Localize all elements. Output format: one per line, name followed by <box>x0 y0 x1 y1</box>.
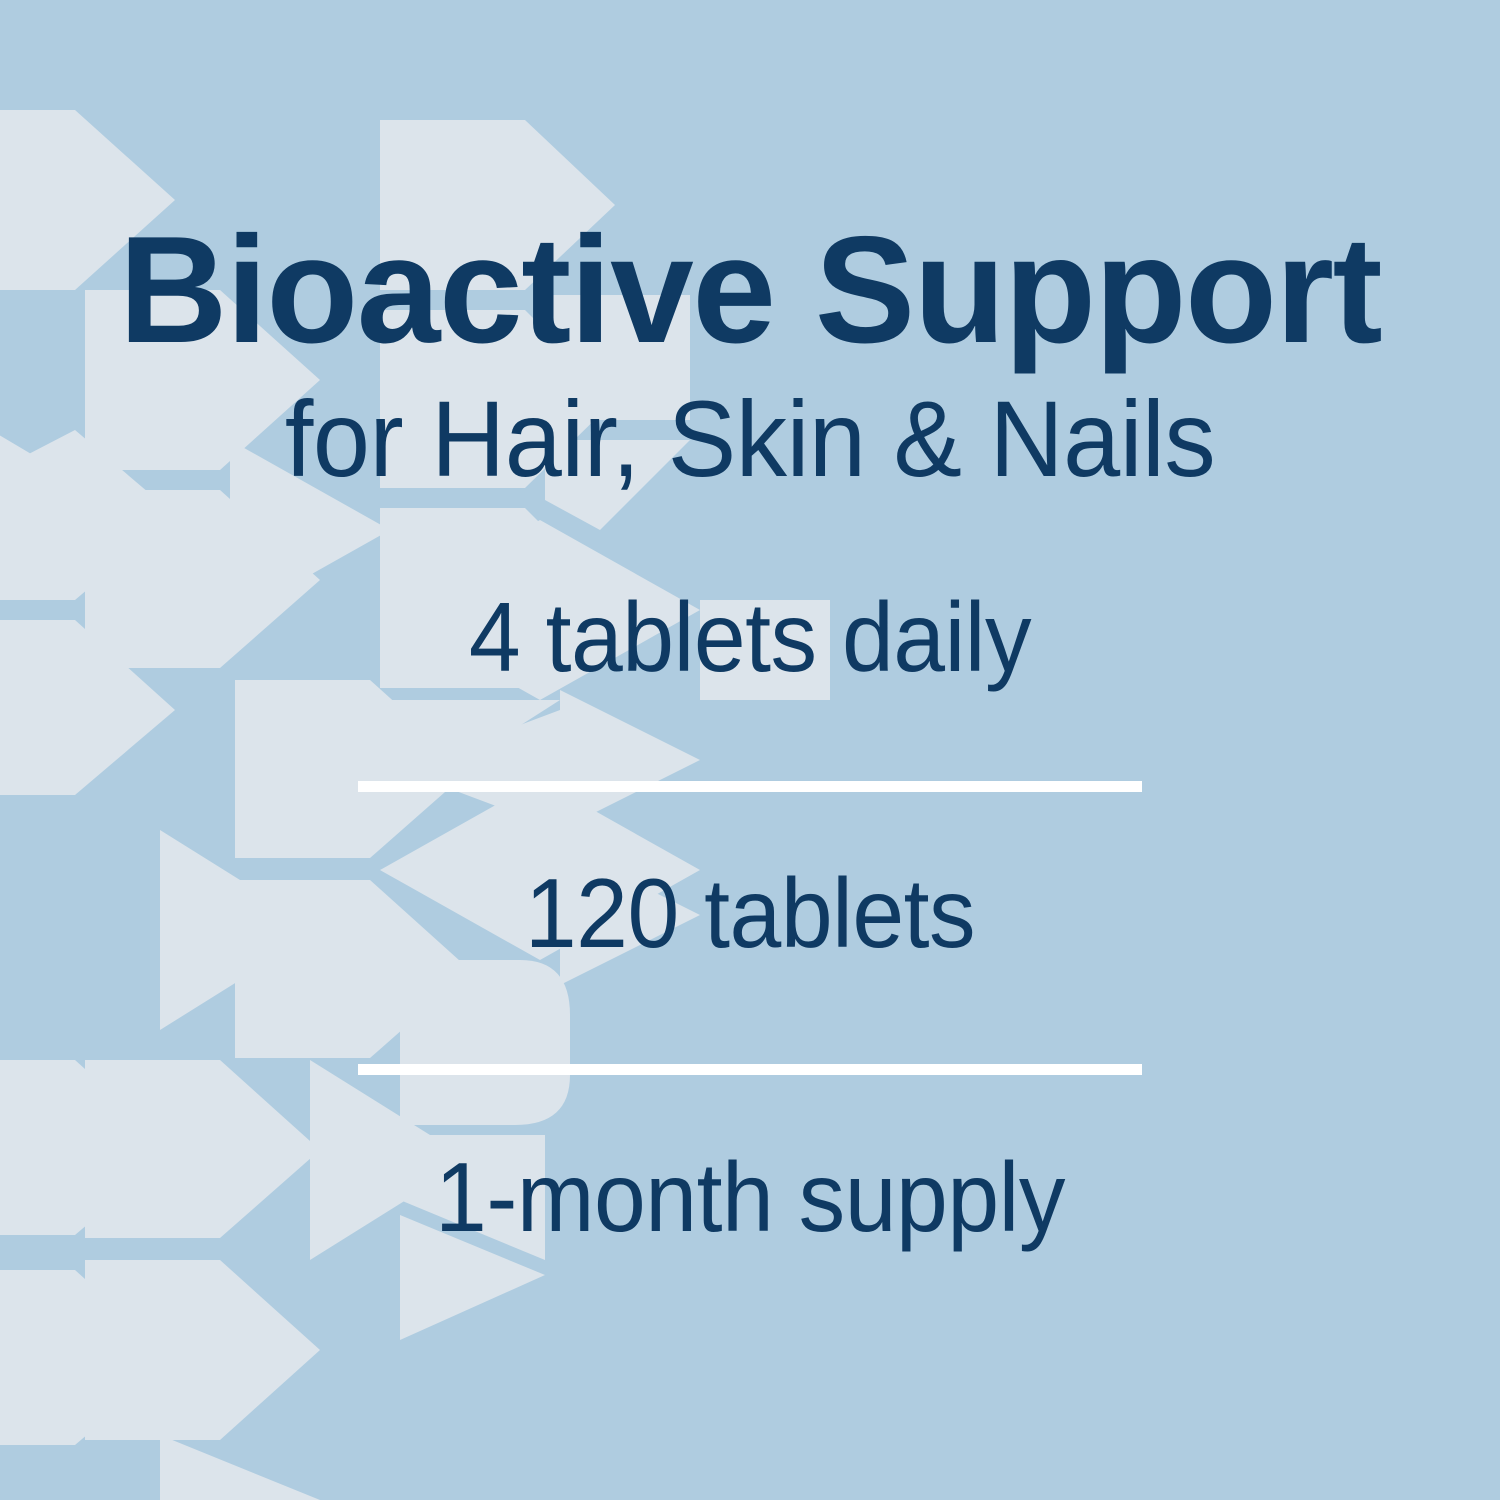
fact-supply-duration: 1-month supply <box>38 1148 1463 1246</box>
divider-rule-1 <box>358 781 1142 792</box>
text-content-layer: Bioactive Support for Hair, Skin & Nails… <box>0 0 1500 1500</box>
fact-tablet-count: 120 tablets <box>38 864 1463 962</box>
page-subtitle: for Hair, Skin & Nails <box>38 385 1463 493</box>
divider-rule-2 <box>358 1064 1142 1075</box>
page-title: Bioactive Support <box>8 214 1493 366</box>
product-info-graphic: Bioactive Support for Hair, Skin & Nails… <box>0 0 1500 1500</box>
fact-dosage: 4 tablets daily <box>38 588 1463 686</box>
